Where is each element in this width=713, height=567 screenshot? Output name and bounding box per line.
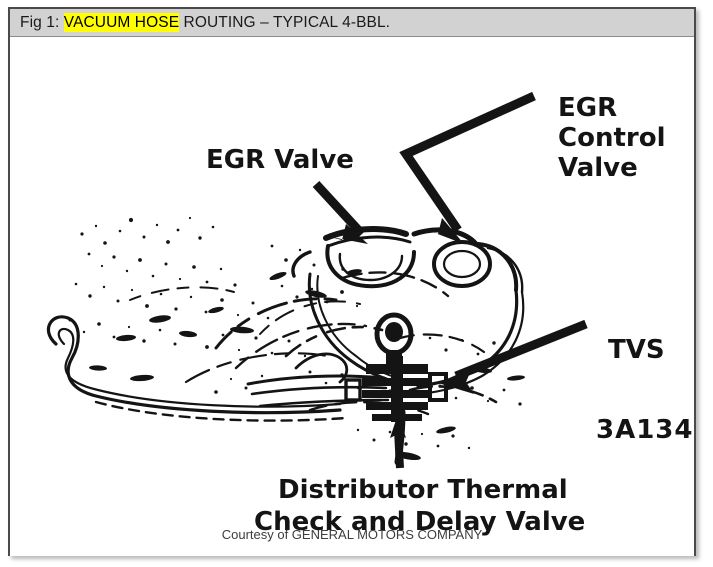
egr-control-valve-assembly xyxy=(414,230,522,292)
figure-page: Fig 1: VACUUM HOSE ROUTING – TYPICAL 4-B… xyxy=(0,0,713,567)
diagram-canvas: EGR Valve EGR Control Valve TVS 3A134 Di… xyxy=(10,38,694,556)
label-egr-control-valve-line2: Control xyxy=(558,123,665,153)
courtesy-credit: Courtesy of GENERAL MOTORS COMPANY xyxy=(10,527,694,542)
figure-panel: Fig 1: VACUUM HOSE ROUTING – TYPICAL 4-B… xyxy=(8,7,696,556)
label-delay-valve-line1: Distributor Thermal xyxy=(278,475,568,505)
caption-prefix: Fig 1: xyxy=(20,14,64,31)
label-egr-control-valve-line1: EGR xyxy=(558,93,617,123)
engine-block-shading xyxy=(89,268,525,461)
figure-caption: Fig 1: VACUUM HOSE ROUTING – TYPICAL 4-B… xyxy=(20,14,390,32)
tvs-leader-arrow xyxy=(438,324,586,394)
caption-highlight-term[interactable]: VACUUM HOSE xyxy=(64,13,179,32)
label-tvs: TVS xyxy=(608,335,665,365)
caption-suffix: ROUTING – TYPICAL 4-BBL. xyxy=(179,14,390,31)
label-part-number: 3A134 xyxy=(596,415,694,445)
egr-control-valve-leader-arrow xyxy=(406,96,534,244)
label-egr-control-valve-line3: Valve xyxy=(558,153,638,183)
label-egr-valve: EGR Valve xyxy=(206,145,354,175)
vacuum-hose-routing-illustration: EGR Valve EGR Control Valve TVS 3A134 Di… xyxy=(10,38,694,556)
figure-caption-bar: Fig 1: VACUUM HOSE ROUTING – TYPICAL 4-B… xyxy=(10,9,694,37)
